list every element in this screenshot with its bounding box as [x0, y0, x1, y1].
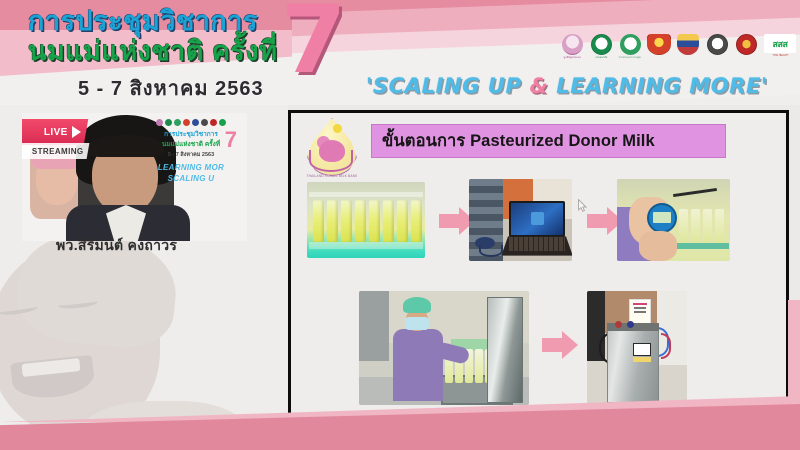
medical-council-icon — [736, 34, 757, 55]
breastfeeding-center-icon — [591, 34, 612, 55]
poster-tagline-line1: LEARNING MOR — [139, 163, 243, 172]
thermometer-probe — [673, 188, 717, 197]
milk-bottle — [313, 200, 324, 242]
pasteurizer-label-strip — [633, 357, 651, 362]
poster-edition-number: 7 — [225, 127, 237, 153]
surgical-cap-icon — [403, 297, 431, 313]
conference-edition-number: 7 — [281, 0, 346, 88]
ministry-of-public-health-logo: กระทรวงสาธารณสุข — [618, 34, 642, 64]
slide-title-box: ขั้นตอนการ Pasteurized Donor Milk — [371, 124, 726, 158]
arrow-shaft — [587, 214, 609, 228]
poster-logo-row — [139, 117, 243, 126]
nurse-loading-pasteurizer-photo — [359, 291, 529, 405]
process-row-1 — [299, 175, 784, 265]
tagline-ampersand: & — [530, 74, 549, 98]
tagline-prefix: 'SCALING UP — [366, 74, 530, 98]
royal-crown-emblem-logo — [647, 34, 671, 64]
slide-content-panel: THAILAND HUMAN MILK BANK ขั้นตอนการ Past… — [288, 110, 789, 436]
live-badge-label: LIVE — [44, 127, 68, 138]
arrow-head — [562, 331, 578, 359]
thai-breastfeeding-center-logo: กรมอนามัย — [589, 34, 613, 64]
milk-bottle — [715, 209, 724, 243]
mouse-pointer — [578, 199, 587, 212]
milk-bottle — [411, 200, 422, 242]
play-icon — [72, 126, 81, 138]
poster-logo-icon — [219, 119, 226, 126]
milk-bottle — [691, 209, 700, 243]
thaihealth-icon: สสส — [764, 34, 796, 53]
conference-banner: การประชุมวิชาการ นมแม่แห่งชาติ ครั้งที่ … — [0, 0, 800, 105]
public-health-icon — [620, 34, 641, 55]
conference-title-line2: นมแม่แห่งชาติ ครั้งที่ — [28, 38, 277, 65]
droplet-highlight-icon — [333, 124, 342, 133]
screen-logo-icon — [531, 212, 544, 225]
poster-logo-icon — [165, 119, 172, 126]
live-badge: LIVE — [22, 119, 88, 145]
milk-bottle — [703, 209, 712, 243]
royal-patronage-seal-icon — [562, 34, 583, 55]
milk-bottle — [679, 209, 688, 243]
pasteurizer-control-display — [633, 343, 651, 356]
university-seal-logo — [705, 34, 729, 64]
streaming-badge-label: STREAMING — [32, 147, 84, 156]
medical-council-logo — [734, 34, 758, 64]
poster-logo-icon — [183, 119, 190, 126]
tagline-suffix: LEARNING MORE' — [548, 74, 768, 98]
mouse-cable — [479, 245, 503, 257]
sign-line — [634, 307, 646, 309]
poster-logo-icon — [192, 119, 199, 126]
sign-line — [633, 303, 647, 305]
arrow-shaft — [542, 338, 564, 352]
pasteurizer-lid — [487, 297, 523, 403]
laptop-keyboard — [509, 237, 565, 251]
logo-caption: มูลนิธิศูนย์นมแม่ — [563, 56, 581, 60]
rack-shelf-bottom — [309, 242, 423, 249]
digital-thermometer-check-photo — [617, 179, 730, 261]
streaming-badge: STREAMING — [22, 143, 89, 159]
national-emblem-logo — [676, 34, 700, 64]
speaker-name: พว.สิริมนต์ คงถาวร — [56, 235, 177, 257]
slide-title-text: ขั้นตอนการ Pasteurized Donor Milk — [382, 128, 655, 154]
logo-caption: กรมอนามัย — [595, 56, 607, 60]
pasteurizer-cabinet — [607, 327, 659, 403]
milk-bottle — [369, 200, 380, 242]
royal-patronage-seal-logo: มูลนิธิศูนย์นมแม่ — [560, 34, 584, 64]
logo-caption: กระทรวงสาธารณสุข — [619, 56, 641, 60]
milk-bottle — [383, 200, 394, 242]
speaker-zone: การประชุมวิชาการ นมแม่แห่งชาติ ครั้งที่ … — [0, 105, 288, 450]
poster-logo-icon — [174, 119, 181, 126]
conference-dates: 5 - 7 สิงหาคม 2563 — [78, 72, 264, 104]
cradling-arms-icon — [309, 150, 353, 172]
poster-logo-icon — [201, 119, 208, 126]
laptop-data-entry-photo — [469, 179, 572, 261]
bottle-group — [679, 209, 724, 243]
control-knob-red-icon — [615, 321, 622, 328]
poster-logo-icon — [210, 119, 217, 126]
video-poster-backdrop: การประชุมวิชาการ นมแม่แห่งชาติ ครั้งที่ … — [139, 117, 243, 237]
milk-bottle — [355, 200, 366, 242]
national-emblem-icon — [677, 34, 699, 55]
process-row-2 — [299, 281, 784, 411]
pasteurizer-machine-photo — [587, 291, 687, 405]
wall-cabinet — [359, 291, 389, 361]
nurse-scrubs — [393, 329, 443, 401]
rack-shelf-top — [309, 192, 423, 197]
sign-line — [634, 311, 646, 313]
arrow-shaft — [439, 214, 461, 228]
milk-bottle — [327, 200, 338, 242]
operator-hand-lower — [639, 231, 677, 261]
milk-bottle — [341, 200, 352, 242]
sponsor-logo-strip: มูลนิธิศูนย์นมแม่ กรมอนามัย กระทรวงสาธาร… — [560, 24, 797, 64]
poster-logo-icon — [156, 119, 163, 126]
poster-tagline-line2: SCALING U — [139, 174, 243, 183]
milk-bottle — [397, 200, 408, 242]
logo-caption: THAI HEALTH — [772, 54, 788, 57]
slide-canvas: การประชุมวิชาการ นมแม่แห่งชาติ ครั้งที่ … — [0, 0, 800, 450]
bottle-group — [313, 200, 422, 242]
speaker-video-thumbnail[interactable]: การประชุมวิชาการ นมแม่แห่งชาติ ครั้งที่ … — [22, 113, 247, 241]
conference-title-line1: การประชุมวิชาการ — [28, 8, 258, 35]
royal-crown-icon — [647, 34, 671, 55]
milk-bottle — [475, 349, 483, 383]
rack-shelf — [675, 243, 729, 249]
university-seal-icon — [707, 34, 728, 55]
control-knob-blue-icon — [627, 321, 634, 328]
thermometer-display — [653, 212, 671, 223]
thaihealth-logo: สสส THAI HEALTH — [763, 34, 797, 64]
conference-tagline: 'SCALING UP & LEARNING MORE' — [366, 74, 768, 98]
milk-bottles-on-tray-photo — [307, 182, 425, 258]
surgical-mask-icon — [405, 317, 429, 330]
